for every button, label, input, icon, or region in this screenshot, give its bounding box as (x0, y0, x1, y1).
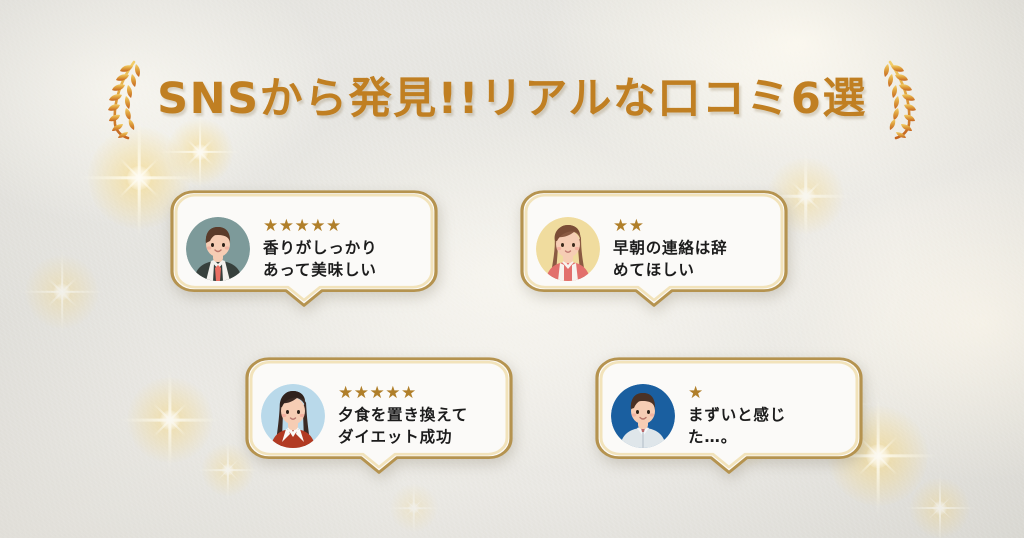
review-card-4[interactable]: ★ まずいと感じ た…。 (595, 357, 863, 475)
avatar-male-shirt (611, 384, 675, 448)
title-row: SNSから発見!!リアルな口コミ6選 (0, 56, 1024, 142)
review-card-content: ★★★★★ 夕食を置き換えて ダイエット成功 (245, 357, 513, 475)
rating-stars: ★★★★★ (338, 384, 468, 401)
rating-stars: ★ (688, 384, 786, 401)
review-card-content: ★★ 早朝の連絡は辞 めてほしい (520, 190, 788, 308)
review-body: ★★★★★ 夕食を置き換えて ダイエット成功 (338, 384, 468, 448)
review-card-3[interactable]: ★★★★★ 夕食を置き換えて ダイエット成功 (245, 357, 513, 475)
rating-stars: ★★ (613, 217, 727, 234)
review-body: ★★ 早朝の連絡は辞 めてほしい (613, 217, 727, 281)
avatar-female-longhair (536, 217, 600, 281)
rating-stars: ★★★★★ (263, 217, 377, 234)
review-card-content: ★★★★★ 香りがしっかり あって美味しい (170, 190, 438, 308)
laurel-branch-right-icon (877, 58, 923, 140)
review-text: 香りがしっかり あって美味しい (263, 237, 377, 281)
review-body: ★★★★★ 香りがしっかり あって美味しい (263, 217, 377, 281)
review-card-content: ★ まずいと感じ た…。 (595, 357, 863, 475)
review-text: 早朝の連絡は辞 めてほしい (613, 237, 727, 281)
review-text: まずいと感じ た…。 (688, 404, 786, 448)
laurel-branch-left-icon (101, 58, 147, 140)
avatar-female-collar (261, 384, 325, 448)
review-text: 夕食を置き換えて ダイエット成功 (338, 404, 468, 448)
avatar-male-suit (186, 217, 250, 281)
review-body: ★ まずいと感じ た…。 (688, 384, 786, 448)
page-title: SNSから発見!!リアルな口コミ6選 (157, 78, 867, 121)
review-card-1[interactable]: ★★★★★ 香りがしっかり あって美味しい (170, 190, 438, 308)
poster-canvas: SNSから発見!!リアルな口コミ6選 (0, 0, 1024, 538)
review-card-2[interactable]: ★★ 早朝の連絡は辞 めてほしい (520, 190, 788, 308)
